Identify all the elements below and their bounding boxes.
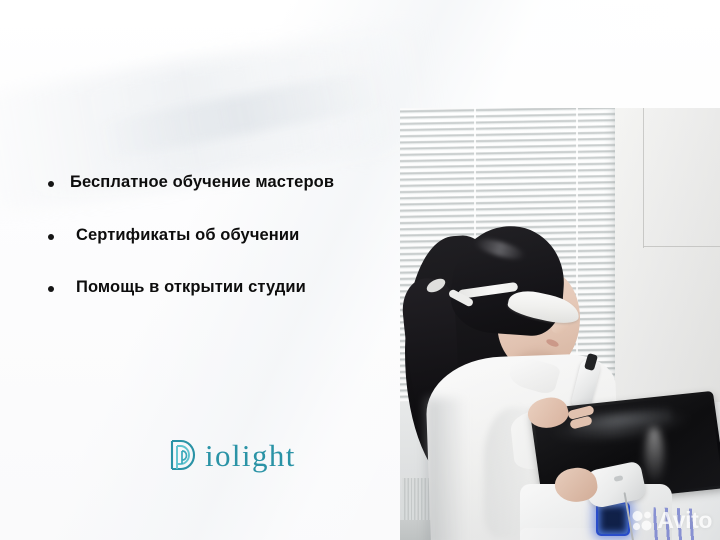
diolight-d-monogram-icon — [168, 438, 198, 472]
list-item-label: Сертификаты об обучении — [70, 225, 299, 246]
bullet-dot-icon — [48, 286, 54, 292]
bullet-dot-icon — [48, 181, 54, 187]
list-item-label: Помощь в открытии студии — [70, 277, 306, 298]
clinic-photo: ULTRA MAX 2400 DioLight Avito — [400, 108, 720, 540]
screen-glare — [645, 427, 663, 485]
benefits-list: Бесплатное обучение мастеров Сертификаты… — [48, 172, 408, 330]
brand-logo: iolight — [168, 438, 296, 472]
list-item: Сертификаты об обучении — [48, 225, 408, 246]
slide-canvas: Бесплатное обучение мастеров Сертификаты… — [0, 0, 720, 540]
list-item-label: Бесплатное обучение мастеров — [70, 172, 334, 193]
device-light-stripes — [650, 507, 695, 540]
wall-seam — [643, 246, 720, 247]
bullet-dot-icon — [48, 234, 54, 240]
coat-shadow — [426, 398, 466, 540]
list-item: Помощь в открытии студии — [48, 277, 408, 298]
wall-seam — [643, 108, 644, 248]
brand-wordmark: iolight — [205, 440, 296, 471]
list-item: Бесплатное обучение мастеров — [48, 172, 408, 193]
